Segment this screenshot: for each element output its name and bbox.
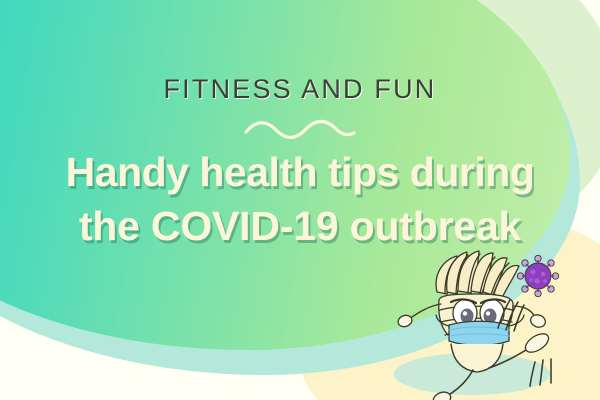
headline-line-1: Handy health tips during <box>0 145 600 199</box>
wavy-divider-icon <box>240 118 360 140</box>
poster-kicker: FITNESS AND FUN <box>0 74 600 105</box>
poster-headline: Handy health tips during the COVID-19 ou… <box>0 145 600 253</box>
motion-lines-foot <box>530 359 551 386</box>
wavy-divider <box>0 118 600 140</box>
poster-canvas: FITNESS AND FUN Handy health tips during… <box>0 0 600 400</box>
headline-line-2: the COVID-19 outbreak <box>0 199 600 253</box>
coronavirus-icon <box>516 254 560 298</box>
